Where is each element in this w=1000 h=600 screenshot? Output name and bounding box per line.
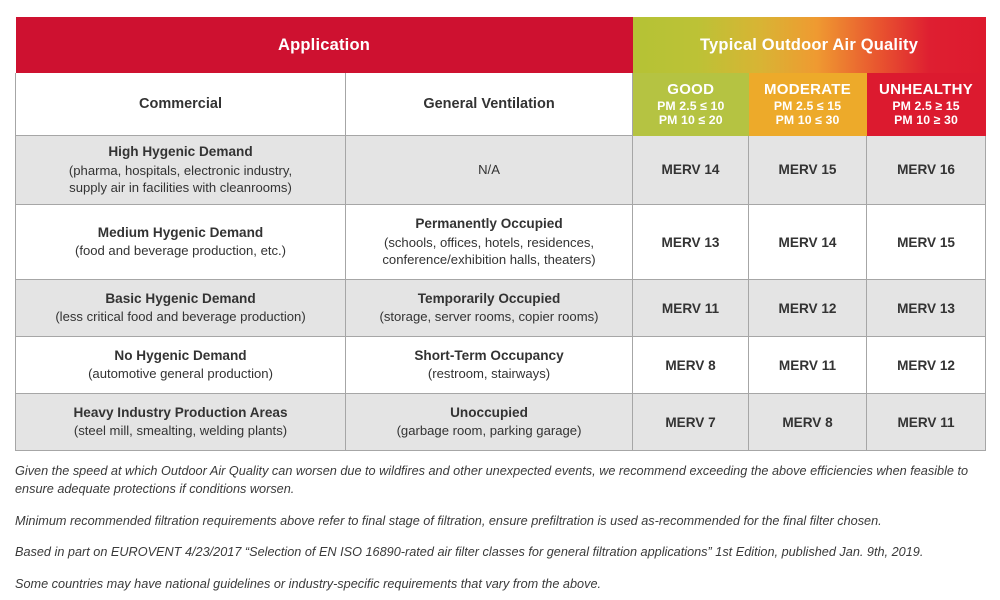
commercial-title: No Hygenic Demand [16,347,345,365]
ventilation-sub-line: (garbage room, parking garage) [346,422,632,440]
cell-merv-unhealthy: MERV 15 [867,205,986,280]
footnote-item: Based in part on EUROVENT 4/23/2017 “Sel… [15,543,975,561]
ventilation-value: N/A [346,161,632,179]
unhealthy-pm10: PM 10 ≥ 30 [867,113,986,127]
cell-ventilation: Permanently Occupied (schools, offices, … [346,205,633,280]
moderate-pm25: PM 2.5 ≤ 15 [749,99,867,113]
merv-recommendation-table: Application Typical Outdoor Air Quality … [15,17,986,451]
cell-commercial: High Hygenic Demand (pharma, hospitals, … [16,136,346,205]
cell-merv-good: MERV 13 [633,205,749,280]
cell-commercial: Heavy Industry Production Areas (steel m… [16,394,346,451]
ventilation-title: Unoccupied [346,404,632,422]
unhealthy-title: UNHEALTHY [867,81,986,98]
cell-merv-unhealthy: MERV 12 [867,337,986,394]
cell-merv-unhealthy: MERV 13 [867,280,986,337]
column-header-moderate: MODERATE PM 2.5 ≤ 15 PM 10 ≤ 30 [749,73,867,136]
commercial-title: Heavy Industry Production Areas [16,404,345,422]
cell-merv-moderate: MERV 8 [749,394,867,451]
ventilation-title: Short-Term Occupancy [346,347,632,365]
cell-ventilation: Short-Term Occupancy (restroom, stairway… [346,337,633,394]
column-header-unhealthy: UNHEALTHY PM 2.5 ≥ 15 PM 10 ≥ 30 [867,73,986,136]
commercial-sub-line: (food and beverage production, etc.) [16,242,345,260]
ventilation-sub-line: (schools, offices, hotels, residences, [346,234,632,252]
commercial-sub-line: (automotive general production) [16,365,345,383]
cell-merv-good: MERV 7 [633,394,749,451]
ventilation-sub-line: (storage, server rooms, copier rooms) [346,308,632,326]
cell-merv-good: MERV 14 [633,136,749,205]
table-row: Heavy Industry Production Areas (steel m… [16,394,986,451]
ventilation-title: Permanently Occupied [346,215,632,233]
filtration-recommendation-chart: Application Typical Outdoor Air Quality … [0,0,1000,600]
commercial-title: Medium Hygenic Demand [16,224,345,242]
good-pm25: PM 2.5 ≤ 10 [633,99,749,113]
cell-merv-moderate: MERV 12 [749,280,867,337]
cell-commercial: Medium Hygenic Demand (food and beverage… [16,205,346,280]
footnote-item: Given the speed at which Outdoor Air Qua… [15,462,975,499]
merv-table-container: Application Typical Outdoor Air Quality … [15,17,985,451]
cell-merv-moderate: MERV 15 [749,136,867,205]
cell-merv-good: MERV 8 [633,337,749,394]
column-header-good: GOOD PM 2.5 ≤ 10 PM 10 ≤ 20 [633,73,749,136]
ventilation-title: Temporarily Occupied [346,290,632,308]
commercial-sub-line: (steel mill, smealting, welding plants) [16,422,345,440]
commercial-sub-line: (less critical food and beverage product… [16,308,345,326]
cell-ventilation: Unoccupied (garbage room, parking garage… [346,394,633,451]
table-subheader-row: Commercial General Ventilation GOOD PM 2… [16,73,986,136]
cell-merv-good: MERV 11 [633,280,749,337]
ventilation-sub-line: conference/exhibition halls, theaters) [346,251,632,269]
commercial-title: High Hygenic Demand [16,143,345,161]
table-row: High Hygenic Demand (pharma, hospitals, … [16,136,986,205]
ventilation-sub-line: (restroom, stairways) [346,365,632,383]
table-row: Medium Hygenic Demand (food and beverage… [16,205,986,280]
commercial-title: Basic Hygenic Demand [16,290,345,308]
cell-ventilation: Temporarily Occupied (storage, server ro… [346,280,633,337]
moderate-title: MODERATE [749,81,867,98]
cell-commercial: No Hygenic Demand (automotive general pr… [16,337,346,394]
cell-ventilation: N/A [346,136,633,205]
commercial-sub-line: (pharma, hospitals, electronic industry, [16,162,345,180]
table-row: Basic Hygenic Demand (less critical food… [16,280,986,337]
banner-application: Application [16,17,633,73]
banner-air-quality: Typical Outdoor Air Quality [633,17,986,73]
cell-merv-moderate: MERV 11 [749,337,867,394]
cell-merv-unhealthy: MERV 11 [867,394,986,451]
table-row: No Hygenic Demand (automotive general pr… [16,337,986,394]
footnote-item: Minimum recommended filtration requireme… [15,512,975,530]
column-header-commercial: Commercial [16,73,346,136]
unhealthy-pm25: PM 2.5 ≥ 15 [867,99,986,113]
good-title: GOOD [633,81,749,98]
cell-merv-unhealthy: MERV 16 [867,136,986,205]
footnote-item: Some countries may have national guideli… [15,575,975,593]
cell-commercial: Basic Hygenic Demand (less critical food… [16,280,346,337]
good-pm10: PM 10 ≤ 20 [633,113,749,127]
moderate-pm10: PM 10 ≤ 30 [749,113,867,127]
table-banner-row: Application Typical Outdoor Air Quality [16,17,986,73]
column-header-general-ventilation: General Ventilation [346,73,633,136]
commercial-sub-line: supply air in facilities with cleanrooms… [16,179,345,197]
footnotes: Given the speed at which Outdoor Air Qua… [15,462,975,593]
cell-merv-moderate: MERV 14 [749,205,867,280]
